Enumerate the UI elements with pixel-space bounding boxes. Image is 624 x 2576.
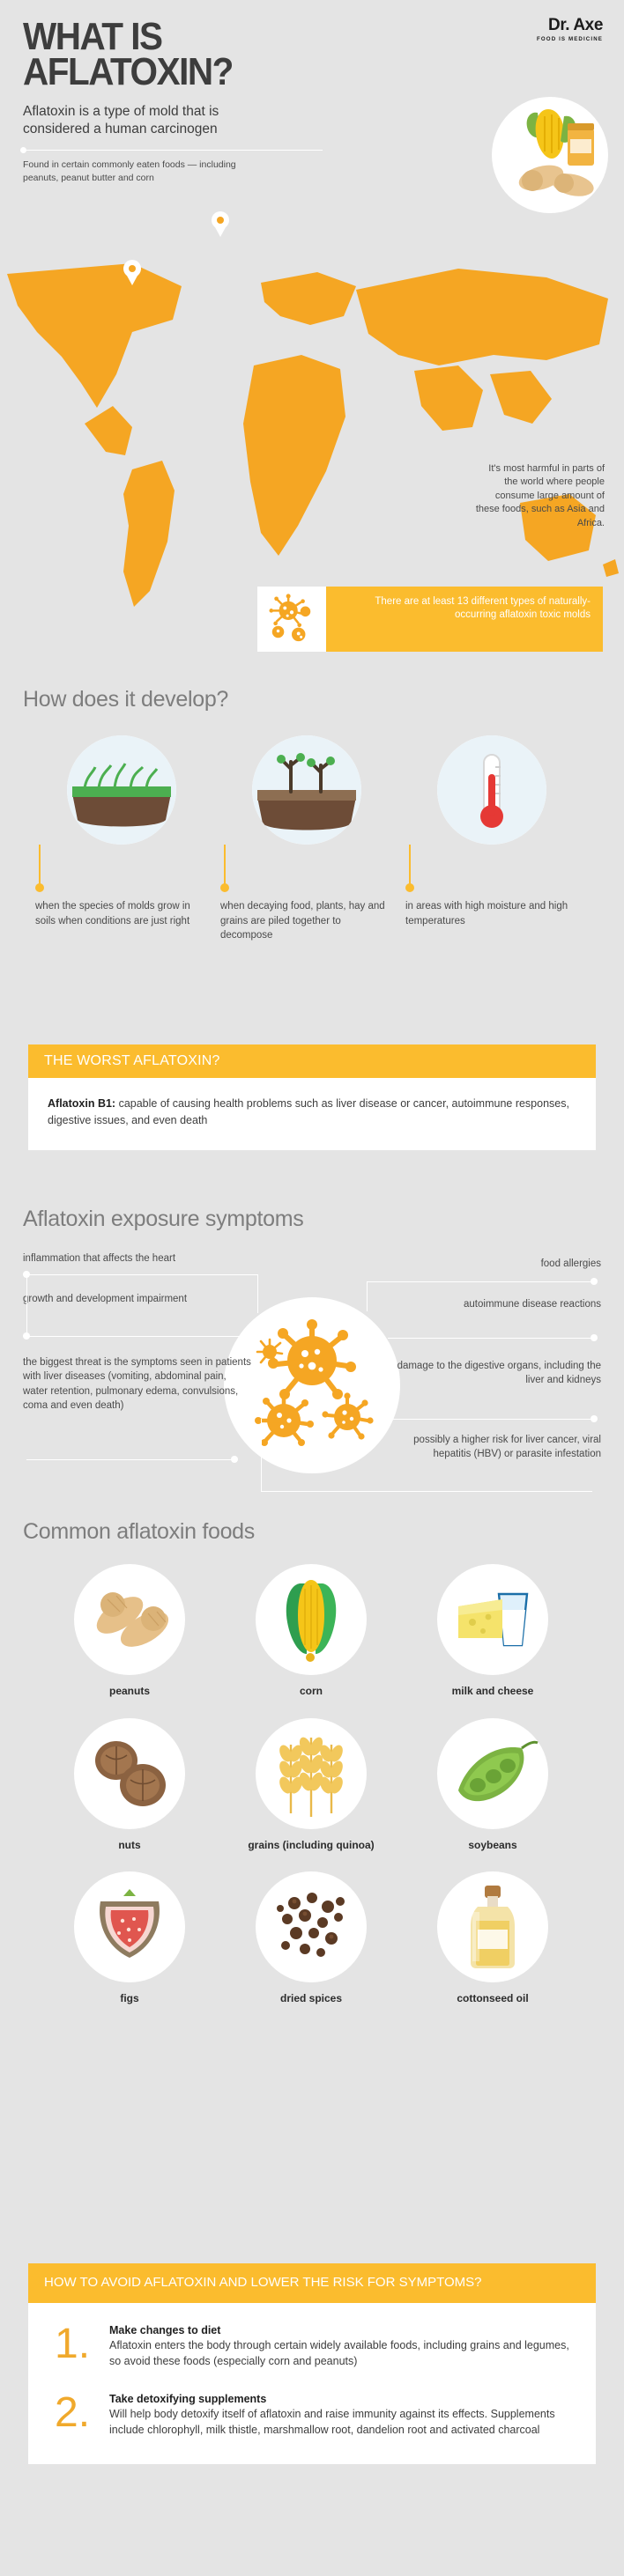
page-subtitle: Aflatoxin is a type of mold that is cons… [23, 103, 287, 139]
develop-connector-3 [405, 845, 578, 892]
symptom-left-2: growth and development impairment [23, 1292, 252, 1306]
grass-soil-icon [67, 735, 176, 845]
worst-aflatoxin-body: Aflatoxin B1: capable of causing health … [28, 1078, 596, 1150]
food-label-grains: grains (including quinoa) [220, 1839, 402, 1853]
symptom-connector-left-2 [26, 1336, 252, 1337]
thermometer-icon [437, 735, 546, 845]
symptom-connector-right-2 [388, 1338, 592, 1339]
worst-aflatoxin-text: capable of causing health problems such … [48, 1097, 569, 1126]
dead-plants-soil-icon [252, 735, 361, 845]
food-item-figs: figs [39, 1871, 220, 2006]
food-item-milk-cheese: milk and cheese [402, 1564, 583, 1699]
page-title-line1: WHAT IS [23, 19, 555, 55]
avoid-tip-2: 2. Take detoxifying supplements Will hel… [51, 2393, 573, 2439]
worst-aflatoxin-card: THE WORST AFLATOXIN? Aflatoxin B1: capab… [28, 1044, 596, 1150]
symptom-connector-right-3 [388, 1419, 592, 1420]
food-label-figs: figs [39, 1992, 220, 2006]
mold-count-text: There are at least 13 different types of… [326, 587, 603, 652]
food-label-cottonseed-oil: cottonseed oil [402, 1992, 583, 2006]
symptom-right-3: damage to the digestive organs, includin… [390, 1359, 601, 1388]
walnuts-icon [74, 1718, 185, 1829]
symptom-connector-left-1-v [257, 1274, 258, 1313]
food-label-nuts: nuts [39, 1839, 220, 1853]
oil-bottle-icon [437, 1871, 548, 1982]
avoid-tip-2-number: 2. [51, 2393, 109, 2439]
foods-heading: Common aflatoxin foods [0, 1519, 624, 1545]
soybean-pod-icon [437, 1718, 548, 1829]
worst-aflatoxin-label: Aflatoxin B1: [48, 1097, 115, 1110]
develop-item-1: when the species of molds grow in soils … [35, 735, 208, 943]
food-item-soybeans: soybeans [402, 1718, 583, 1853]
food-label-corn: corn [220, 1685, 402, 1699]
food-label-dried-spices: dried spices [220, 1992, 402, 2006]
avoid-tip-1-number: 1. [51, 2324, 109, 2370]
avoid-tip-1-title: Make changes to diet [109, 2324, 573, 2336]
food-item-grains: grains (including quinoa) [220, 1718, 402, 1853]
header-divider [23, 150, 323, 151]
mold-count-banner: There are at least 13 different types of… [257, 587, 603, 652]
symptom-dot-right-3 [591, 1415, 598, 1422]
food-label-peanuts: peanuts [39, 1685, 220, 1699]
symptoms-section: Aflatoxin exposure symptoms [0, 1207, 624, 1542]
hero-food-illustration [492, 97, 608, 213]
symptom-connector-right-1 [367, 1281, 592, 1282]
symptom-dot-right-1 [591, 1278, 598, 1285]
symptom-connector-right-1-v [367, 1281, 368, 1311]
avoid-tip-2-body: Will help body detoxify itself of aflato… [109, 2407, 573, 2439]
develop-caption-2: when decaying food, plants, hay and grai… [220, 899, 393, 943]
symptom-connector-left-1 [26, 1274, 257, 1275]
symptom-connector-right-4-v [261, 1419, 262, 1491]
develop-caption-3: in areas with high moisture and high tem… [405, 899, 578, 928]
develop-connector-2 [220, 845, 393, 892]
worst-aflatoxin-title: THE WORST AFLATOXIN? [28, 1044, 596, 1078]
infographic-page: Dr. Axe FOOD IS MEDICINE WHAT IS AFLATOX… [0, 0, 624, 2576]
map-note: It's most harmful in parts of the world … [472, 462, 605, 530]
milk-and-cheese-icon [437, 1564, 548, 1675]
symptom-right-1: food allergies [390, 1257, 601, 1271]
symptoms-heading: Aflatoxin exposure symptoms [0, 1207, 624, 1232]
map-pin-africa [123, 260, 141, 285]
food-item-nuts: nuts [39, 1718, 220, 1853]
symptom-dot-right-2 [591, 1334, 598, 1341]
avoid-section: HOW TO AVOID AFLATOXIN AND LOWER THE RIS… [28, 2263, 596, 2464]
develop-heading: How does it develop? [0, 687, 624, 712]
symptom-connector-right-4 [261, 1491, 592, 1492]
symptom-dot-left-3 [231, 1456, 238, 1463]
develop-connector-1 [35, 845, 208, 892]
symptom-connector-left-2-v [26, 1274, 27, 1336]
page-title-line2: AFLATOXIN? [23, 55, 555, 90]
mold-virus-icon [257, 587, 326, 652]
avoid-tip-1-body: Aflatoxin enters the body through certai… [109, 2338, 573, 2370]
avoid-tip-2-title: Take detoxifying supplements [109, 2393, 573, 2405]
avoid-tips: 1. Make changes to diet Aflatoxin enters… [28, 2303, 596, 2464]
header-lede: Found in certain commonly eaten foods — … [23, 159, 270, 185]
divider-dot-icon [20, 147, 26, 153]
food-item-dried-spices: dried spices [220, 1871, 402, 2006]
symptom-right-2: autoimmune disease reactions [390, 1297, 601, 1311]
develop-section: How does it develop? [0, 687, 624, 943]
symptom-right-4: possibly a higher risk for liver cancer,… [390, 1433, 601, 1462]
map-pin-asia [212, 211, 229, 237]
food-label-milk-cheese: milk and cheese [402, 1685, 583, 1699]
avoid-section-title: HOW TO AVOID AFLATOXIN AND LOWER THE RIS… [28, 2263, 596, 2303]
foods-section: Common aflatoxin foods peanuts [0, 1519, 624, 2026]
symptom-connector-left-3 [26, 1459, 234, 1460]
corn-cob-icon [256, 1564, 367, 1675]
wheat-grains-icon [256, 1718, 367, 1829]
dried-spices-icon [256, 1871, 367, 1982]
symptom-left-1: inflammation that affects the heart [23, 1251, 252, 1266]
peanuts-icon [74, 1564, 185, 1675]
page-title: WHAT IS AFLATOXIN? [23, 19, 555, 91]
food-label-soybeans: soybeans [402, 1839, 583, 1853]
symptoms-diagram: inflammation that affects the heart grow… [0, 1251, 624, 1542]
peanuts-icon [516, 160, 596, 199]
symptom-left-3: the biggest threat is the symptoms seen … [23, 1355, 252, 1413]
food-item-cottonseed-oil: cottonseed oil [402, 1871, 583, 2006]
develop-caption-1: when the species of molds grow in soils … [35, 899, 208, 928]
foods-grid: peanuts corn [0, 1545, 624, 2026]
develop-item-2: when decaying food, plants, hay and grai… [220, 735, 393, 943]
develop-items: when the species of molds grow in soils … [0, 712, 624, 943]
fig-icon [74, 1871, 185, 1982]
food-item-corn: corn [220, 1564, 402, 1699]
peanut-butter-jar-icon [568, 123, 594, 166]
develop-item-3: in areas with high moisture and high tem… [405, 735, 578, 943]
food-item-peanuts: peanuts [39, 1564, 220, 1699]
avoid-tip-1: 1. Make changes to diet Aflatoxin enters… [51, 2324, 573, 2370]
